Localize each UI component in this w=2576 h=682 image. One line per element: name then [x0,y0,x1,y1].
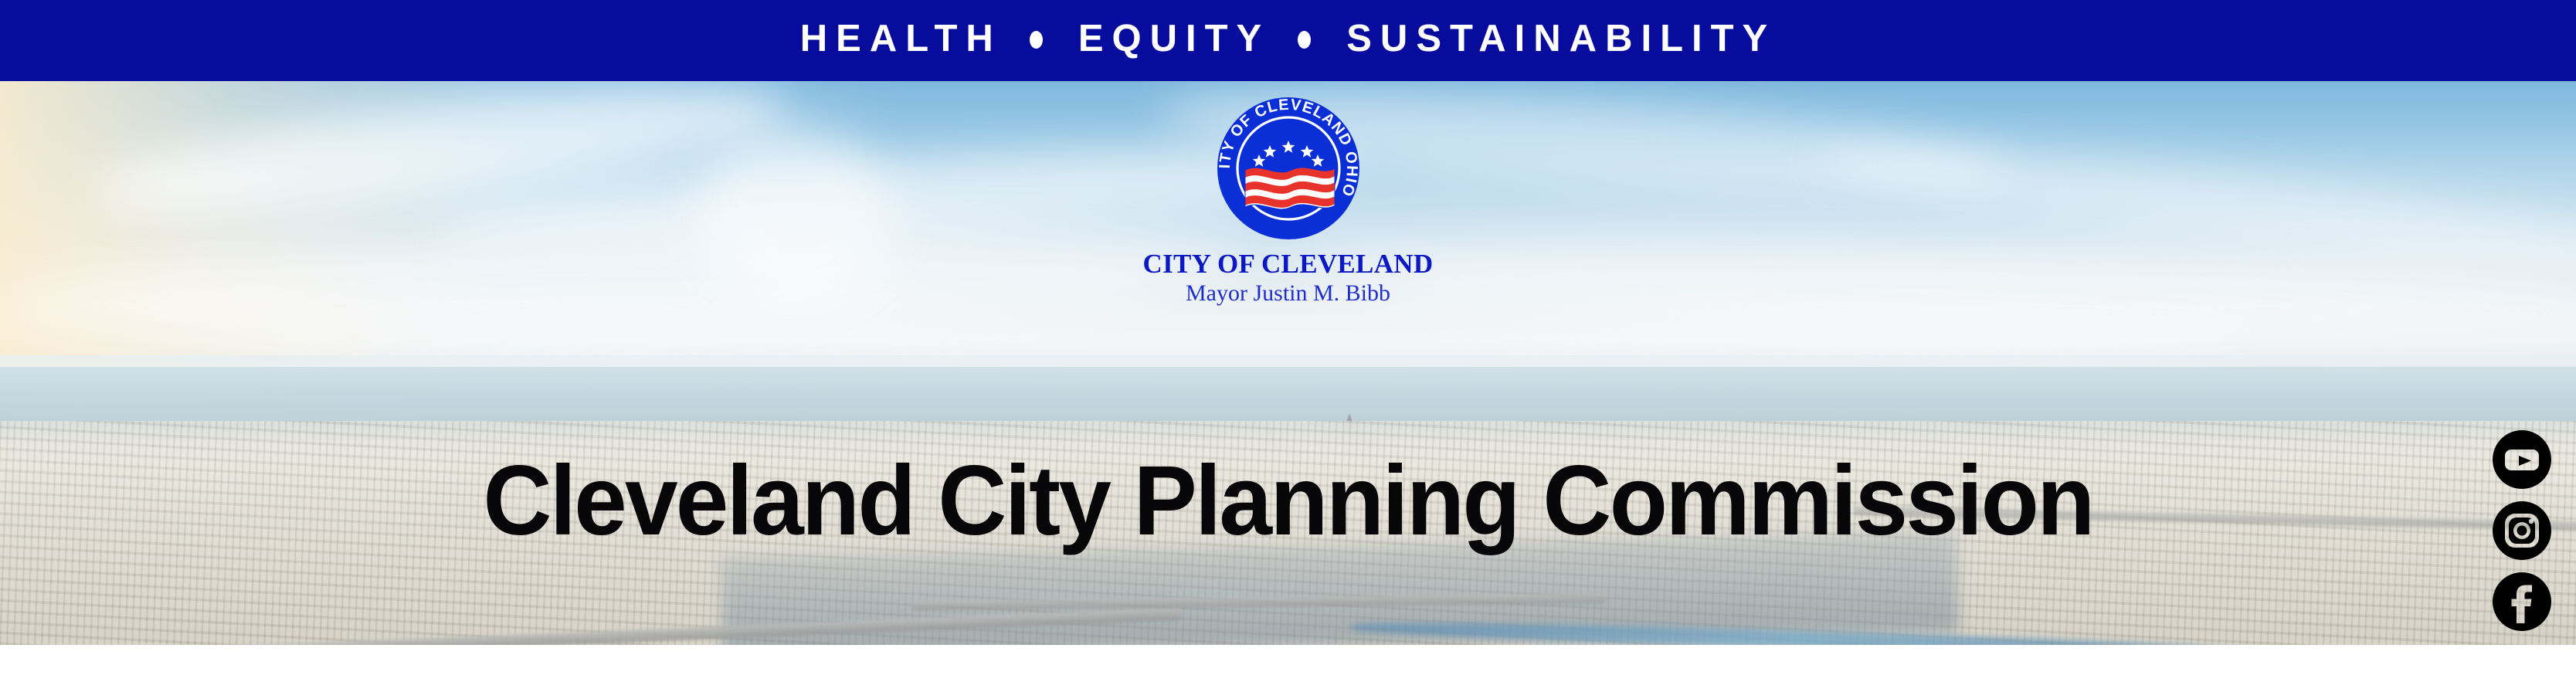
tagline-banner: HEALTH EQUITY SUSTAINABILITY [0,0,2576,81]
page-title: Cleveland City Planning Commission [45,452,2530,551]
tagline-banner-inner: HEALTH EQUITY SUSTAINABILITY [800,20,1776,58]
instagram-icon[interactable] [2492,500,2552,561]
mayor-name-label: Mayor Justin M. Bibb [1111,281,1466,306]
city-logo-block: CITY OF CLEVELAND OHIO CITY OF CLEVELAND… [1111,91,1466,305]
bottom-white-strip [0,645,2576,682]
page-root: HEALTH EQUITY SUSTAINABILITY [0,0,2576,682]
instagram-link[interactable] [2492,500,2552,561]
city-logo-title: CITY OF CLEVELAND [1111,250,1466,279]
youtube-icon[interactable] [2492,429,2552,490]
bullet-dot-icon [1298,31,1311,49]
facebook-link[interactable] [2492,572,2552,632]
tagline-word-health: HEALTH [800,20,1002,58]
tagline-word-equity: EQUITY [1078,20,1270,58]
facebook-icon[interactable] [2492,572,2552,632]
city-of-cleveland-seal-icon: CITY OF CLEVELAND OHIO [1211,91,1366,246]
neighborhood-rooftops [0,614,2576,645]
bullet-dot-icon [1030,31,1043,49]
youtube-link[interactable] [2492,429,2552,490]
tagline-word-sustainability: SUSTAINABILITY [1346,20,1776,58]
social-links [2491,429,2553,632]
